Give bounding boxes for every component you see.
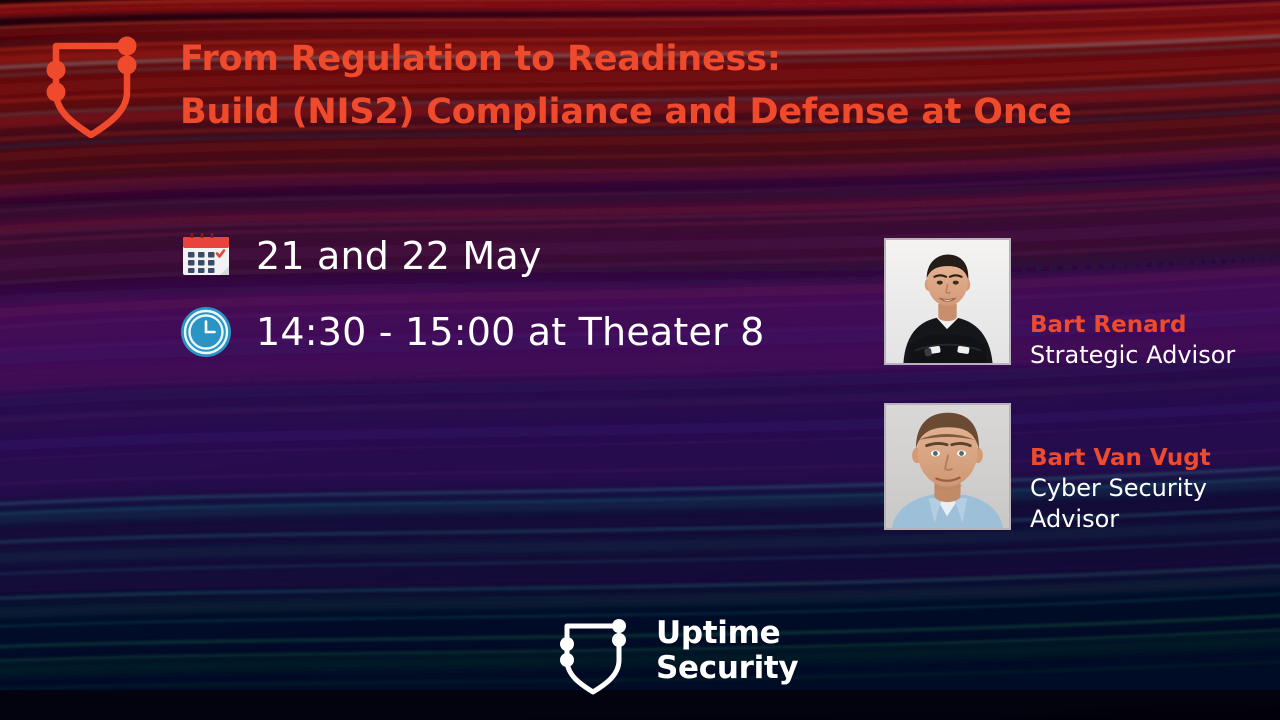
speaker-role-line: Cyber Security	[1030, 473, 1211, 504]
title-line-2: Build (NIS2) Compliance and Defense at O…	[180, 86, 1250, 139]
speaker-meta: Bart Van Vugt Cyber Security Advisor	[1030, 403, 1211, 535]
promo-slide: From Regulation to Readiness: Build (NIS…	[0, 0, 1280, 720]
speaker-card: Bart Van Vugt Cyber Security Advisor	[884, 403, 1280, 535]
speaker-card: Bart Renard Strategic Advisor	[884, 238, 1280, 371]
speaker-role-line: Advisor	[1030, 504, 1211, 535]
speaker-meta: Bart Renard Strategic Advisor	[1030, 238, 1235, 371]
calendar-icon	[180, 230, 232, 282]
speaker-name: Bart Renard	[1030, 310, 1235, 340]
event-time-row: 14:30 - 15:00 at Theater 8	[180, 302, 765, 362]
avatar	[884, 238, 1011, 365]
speakers-list: Bart Renard Strategic Advisor	[884, 238, 1280, 567]
page-title: From Regulation to Readiness: Build (NIS…	[180, 33, 1250, 139]
brand-line-2: Security	[656, 651, 798, 686]
avatar	[884, 403, 1011, 530]
brand-wordmark: Uptime Security	[656, 616, 798, 686]
speaker-role-line: Strategic Advisor	[1030, 340, 1235, 371]
event-date-row: 21 and 22 May	[180, 226, 765, 286]
speaker-name: Bart Van Vugt	[1030, 443, 1211, 473]
header: From Regulation to Readiness: Build (NIS…	[0, 0, 1280, 160]
event-date-text: 21 and 22 May	[256, 234, 542, 278]
shield-circuit-icon	[551, 605, 639, 697]
event-time-text: 14:30 - 15:00 at Theater 8	[256, 310, 765, 354]
event-info: 21 and 22 May 14:30 - 15:00 at Theater 8	[180, 226, 765, 378]
brand-line-1: Uptime	[656, 616, 798, 651]
clock-icon	[180, 306, 232, 358]
footer-brand: Uptime Security	[551, 605, 798, 697]
title-line-1: From Regulation to Readiness:	[180, 33, 1250, 86]
shield-circuit-icon	[34, 18, 154, 138]
